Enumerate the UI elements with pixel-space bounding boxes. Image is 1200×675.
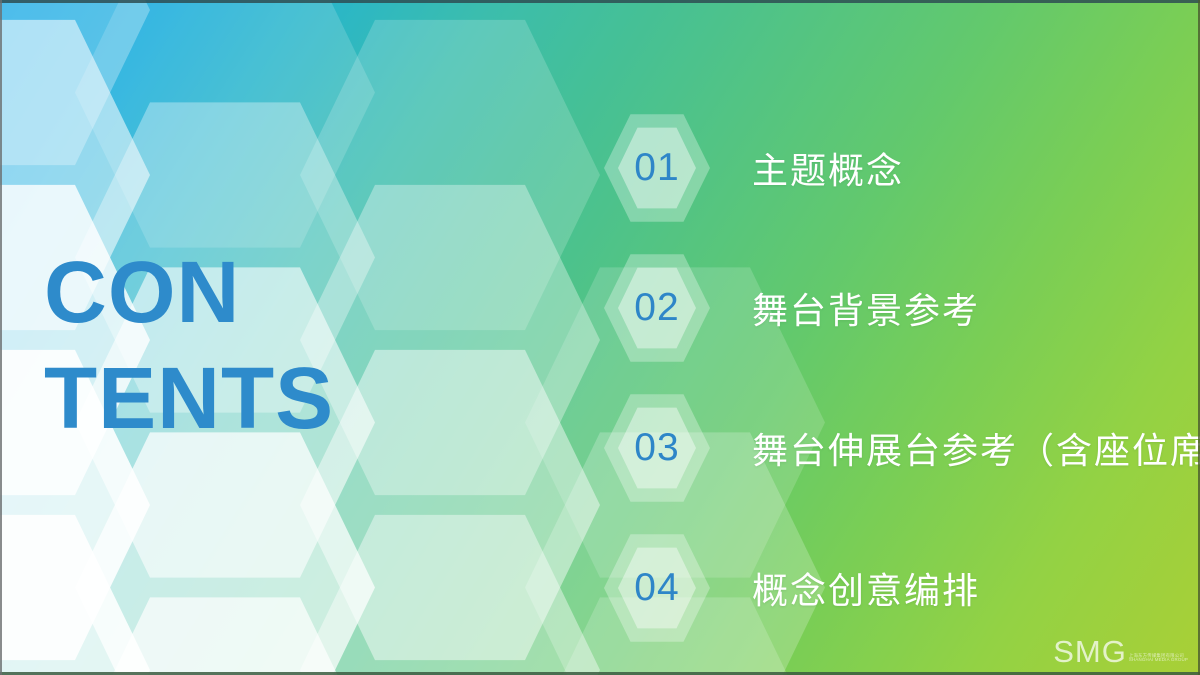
- logo-subtext: 上海东方传媒集团有限公司 SHANGHAI MEDIA GROUP: [1129, 654, 1188, 663]
- hexagon-badge-03: 03: [604, 392, 710, 504]
- hexagon-badge-04: 04: [604, 532, 710, 644]
- logo-wordmark: SMG: [1053, 636, 1127, 667]
- hexagon-badge-02: 02: [604, 252, 710, 364]
- item-number: 03: [604, 392, 710, 504]
- item-label: 概念创意编排: [752, 532, 980, 644]
- logo-subtext-line2: SHANGHAI MEDIA GROUP: [1129, 657, 1188, 662]
- item-label: 主题概念: [752, 112, 904, 224]
- presentation-slide: CON TENTS 01 主题概念 02 舞台背景参考 03: [0, 0, 1200, 675]
- item-number: 02: [604, 252, 710, 364]
- smg-logo: SMG 上海东方传媒集团有限公司 SHANGHAI MEDIA GROUP: [1053, 636, 1188, 667]
- item-number: 01: [604, 112, 710, 224]
- item-label: 舞台背景参考: [752, 252, 980, 364]
- slide-left-edge: [0, 0, 2, 675]
- item-number: 04: [604, 532, 710, 644]
- item-label: 舞台伸展台参考（含座位席）: [752, 392, 1200, 504]
- slide-top-edge: [0, 0, 1200, 3]
- hexagon-badge-01: 01: [604, 112, 710, 224]
- page-title: CON TENTS: [44, 240, 334, 452]
